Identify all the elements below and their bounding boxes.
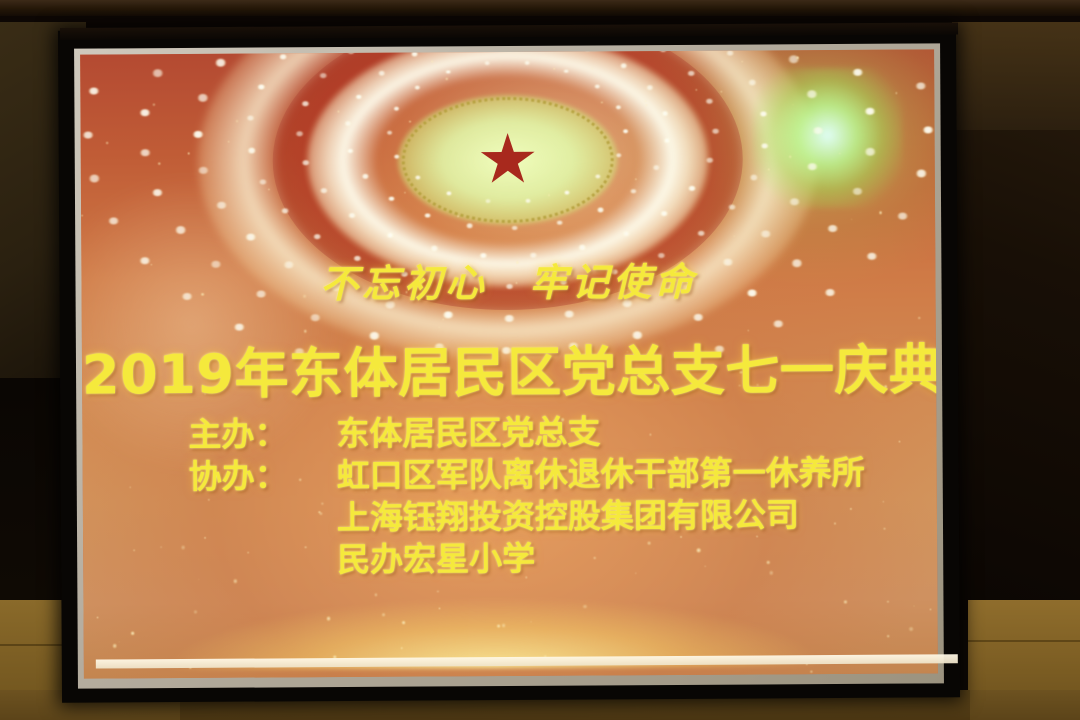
red-star-icon (480, 133, 536, 187)
ceiling-light-dot (198, 94, 209, 101)
ceiling-light-dot (806, 90, 817, 97)
sparkle-particle (879, 211, 882, 214)
ceiling-light-dot (564, 311, 575, 318)
ceiling-light-dot (152, 189, 163, 196)
ceiling-light-dot (247, 148, 255, 153)
ceiling-light-dot (915, 82, 926, 89)
sparkle-particle (438, 607, 440, 609)
sparkle-particle (130, 631, 134, 635)
ceiling-light-dot (176, 226, 187, 233)
ceiling-light-dot (279, 54, 287, 59)
ceiling-light-dot (356, 95, 363, 100)
ceiling-light-dot (748, 80, 756, 85)
ceiling-light-dot (827, 225, 838, 232)
ceiling-light-dot (302, 160, 310, 165)
sparkle-particle (152, 103, 155, 106)
ceiling-light-dot (319, 73, 327, 78)
ceiling-light-dot (82, 131, 93, 138)
sparkle-particle (337, 110, 340, 113)
ceiling-light-dot (564, 190, 570, 194)
sparkle-particle (457, 215, 460, 218)
sparkle-particle (851, 219, 852, 220)
sparkle-particle (635, 178, 637, 180)
sparkle-particle (601, 102, 603, 104)
sparkle-particle (768, 168, 770, 170)
ceiling-light-dot (661, 111, 668, 116)
ceiling-light-dot (705, 99, 713, 104)
ceiling-light-dot (760, 230, 771, 237)
sparkle-particle (733, 235, 735, 237)
ceiling-light-dot (659, 49, 667, 51)
ceiling-light-dot (140, 109, 151, 116)
ceiling-light-dot (687, 71, 695, 76)
sparkle-particle (918, 316, 921, 319)
ceiling-light-dot (245, 233, 256, 240)
ceiling-light-dot (215, 59, 226, 66)
ceiling-light-dot (89, 175, 100, 182)
ceiling-light-dot (806, 163, 817, 170)
sparkle-particle (133, 550, 135, 552)
sparkle-particle (548, 194, 550, 196)
sparkle-particle (839, 152, 841, 154)
conference-room: 不忘初心牢记使命 2019年东体居民区党总支七一庆典 主办： 东体居民区党总支 … (0, 0, 1080, 720)
organizer-row: 主办： 东体居民区党总支 (188, 410, 864, 456)
ceiling-light-dot (692, 314, 703, 321)
ceiling-light-dot (620, 63, 627, 68)
projector-screen-bezel: 不忘初心牢记使命 2019年东体居民区党总支七一庆典 主办： 东体居民区党总支 … (74, 43, 944, 688)
sparkle-particle (895, 92, 897, 94)
sparkle-particle (553, 68, 555, 70)
ceiling-light-dot (616, 153, 622, 157)
ceiling-light-dot (812, 127, 823, 134)
ceiling-light-dot (387, 131, 393, 135)
ceiling-light-dot (347, 49, 355, 53)
organizer-value: 上海钰翔投资控股集团有限公司 (337, 494, 799, 539)
ceiling-beam (0, 0, 1080, 16)
sparkle-particle (797, 56, 800, 59)
sparkle-particle (113, 644, 117, 648)
ceiling-light-dot (726, 51, 734, 56)
sparkle-particle (810, 670, 813, 673)
sparkle-particle (227, 140, 230, 143)
ceiling-light-dot (853, 68, 864, 75)
projected-slide: 不忘初心牢记使命 2019年东体居民区党总支七一庆典 主办： 东体居民区党总支 … (80, 49, 938, 678)
sparkle-particle (181, 545, 186, 550)
sparkle-particle (404, 192, 406, 194)
ceiling-light-dot (578, 245, 586, 250)
ceiling-light-dot (622, 231, 630, 236)
sparkle-particle (81, 215, 82, 216)
organizer-value: 民办宏星小学 (337, 538, 535, 581)
ceiling-light-dot (706, 158, 714, 163)
ceiling-light-dot (556, 220, 563, 225)
sparkle-particle (236, 120, 239, 123)
ceiling-light-dot (852, 188, 863, 195)
ceiling-light-dot (394, 107, 400, 111)
firework-burst-green-icon (752, 68, 903, 209)
ceiling-light-dot (139, 149, 150, 156)
ceiling-light-dots (80, 49, 934, 54)
ceiling-light-dot (663, 138, 670, 143)
ceiling-light-dot (216, 201, 227, 208)
organizer-label: 主办： (188, 413, 336, 456)
sparkle-particle (741, 61, 743, 63)
ceiling-light-dot (484, 199, 490, 203)
ceiling-light-dot (152, 69, 163, 76)
ceiling-light-dot (697, 231, 705, 236)
ceiling-light-dot (595, 85, 601, 89)
ceiling-light-dot (446, 191, 452, 195)
ceiling-light-dot (897, 212, 908, 219)
ceiling-light-dot (88, 87, 99, 94)
ceiling-ring-core-glow (397, 94, 618, 225)
sparkle-particle (161, 546, 163, 548)
sparkle-particle (696, 89, 698, 91)
sparkle-particle (158, 162, 161, 165)
ceiling-light-dot (386, 232, 394, 237)
ceiling-light-dot (362, 174, 369, 179)
projector-screen-surface: 不忘初心牢记使命 2019年东体居民区党总支七一庆典 主办： 东体居民区党总支 … (80, 49, 938, 678)
ceiling-light-dot (107, 49, 118, 52)
ceiling-light-dot (760, 143, 768, 148)
ceiling-light-dot (466, 223, 473, 228)
ceiling-light-dot (414, 176, 420, 180)
organizer-row: 上海钰翔投资控股集团有限公司 (189, 494, 865, 540)
ceiling-light-dot (445, 70, 451, 74)
ceiling-light-dot (750, 175, 758, 180)
sparkle-particle (844, 600, 848, 604)
ceiling-light-dot (301, 101, 309, 106)
sparkle-particle (645, 104, 648, 107)
sparkle-particle (409, 121, 411, 123)
ceiling-light-dot (584, 49, 591, 51)
ceiling-light-dot (615, 105, 621, 109)
ceiling-light-dot (345, 121, 352, 126)
sparkle-particle (130, 487, 131, 488)
sparkle-particle (929, 608, 931, 610)
ceiling-light-dot (348, 213, 356, 218)
sparkle-particle (582, 604, 587, 609)
sparkle-particle (591, 68, 593, 70)
ceiling-light-dot (597, 208, 604, 213)
organizer-value: 虹口区军队离休退休干部第一休养所 (337, 452, 865, 497)
sparkle-particle (187, 152, 190, 155)
ceiling-light-dot (309, 314, 320, 321)
ceiling-light-dot (653, 165, 660, 170)
slogan-part-1: 不忘初心 (320, 261, 487, 306)
organizer-label: 协办： (189, 455, 337, 498)
ceiling-light-dot (296, 131, 304, 136)
ceiling-light-dot (394, 155, 400, 159)
organizer-row: 民办宏星小学 (189, 536, 865, 582)
ceiling-light-dot (789, 198, 800, 205)
ceiling-light-dot (630, 189, 637, 194)
sparkle-particle (401, 647, 403, 649)
sparkle-particles (80, 49, 934, 54)
organizer-row: 协办： 虹口区军队离休退休干部第一休养所 (189, 452, 865, 498)
ceiling-light-dot (443, 311, 454, 318)
ceiling-ring-dotted (401, 96, 614, 223)
ceiling-light-dot (511, 226, 518, 231)
organizer-value: 东体居民区党总支 (336, 411, 600, 455)
ceiling-light-dot (646, 85, 653, 90)
ceiling-light-dot (922, 126, 933, 133)
sparkle-particle (374, 593, 377, 596)
ceiling-light-dot (595, 175, 601, 179)
ceiling-light-dot (712, 128, 720, 133)
slide-organizer-block: 主办： 东体居民区党总支 协办： 虹口区军队离休退休干部第一休养所 上海钰翔投资… (188, 410, 865, 582)
ceiling-light-dot (388, 196, 395, 201)
slide-main-title: 2019年东体居民区党总支七一庆典 (82, 325, 936, 409)
sparkle-particle (898, 440, 900, 442)
ceiling-light-dot (916, 170, 927, 177)
sparkle-particle (106, 141, 109, 144)
sparkle-particle (437, 590, 439, 592)
ceiling-light-dot (728, 204, 736, 209)
slogan-part-2: 牢记使命 (529, 260, 696, 305)
sparkle-particle (882, 501, 883, 502)
ceiling-light-dot (431, 246, 439, 251)
sparkle-particle (432, 61, 434, 63)
ceiling-light-dot (411, 52, 418, 57)
ceiling-light-dot (192, 130, 203, 137)
ceiling-light-dot (247, 116, 255, 121)
projector-screen-frame: 不忘初心牢记使命 2019年东体居民区党总支七一庆典 主办： 东体居民区党总支 … (58, 25, 960, 702)
ceiling-light-dot (424, 213, 431, 218)
ceiling-light-dot (378, 71, 385, 76)
sparkle-particle (720, 90, 723, 93)
ceiling-light-dot (484, 61, 490, 65)
ceiling-light-dot (864, 148, 875, 155)
sparkle-particle (501, 623, 505, 627)
ceiling-light-dot (414, 86, 420, 90)
sparkle-particle (644, 101, 646, 103)
ceiling-light-dot (688, 186, 696, 191)
ceiling-light-dot (108, 217, 119, 224)
sparkle-particle (883, 527, 886, 530)
ceiling-light-dot (258, 84, 266, 89)
ceiling-light-dot (503, 315, 514, 322)
sparkle-particle (445, 78, 448, 81)
ceiling-light-dot (347, 148, 354, 153)
ceiling-light-dot (623, 129, 629, 133)
ceiling-light-dot (259, 179, 267, 184)
ceiling-light-dot (660, 211, 668, 216)
ceiling-light-dot (563, 69, 569, 73)
slide-slogan: 不忘初心牢记使命 (81, 249, 935, 309)
sparkle-particle (402, 620, 406, 624)
sparkle-particle (443, 319, 444, 320)
wall-right-upper-lit (952, 22, 1080, 130)
ceiling-light-dot (525, 61, 531, 65)
ceiling-light-dot (525, 199, 531, 203)
